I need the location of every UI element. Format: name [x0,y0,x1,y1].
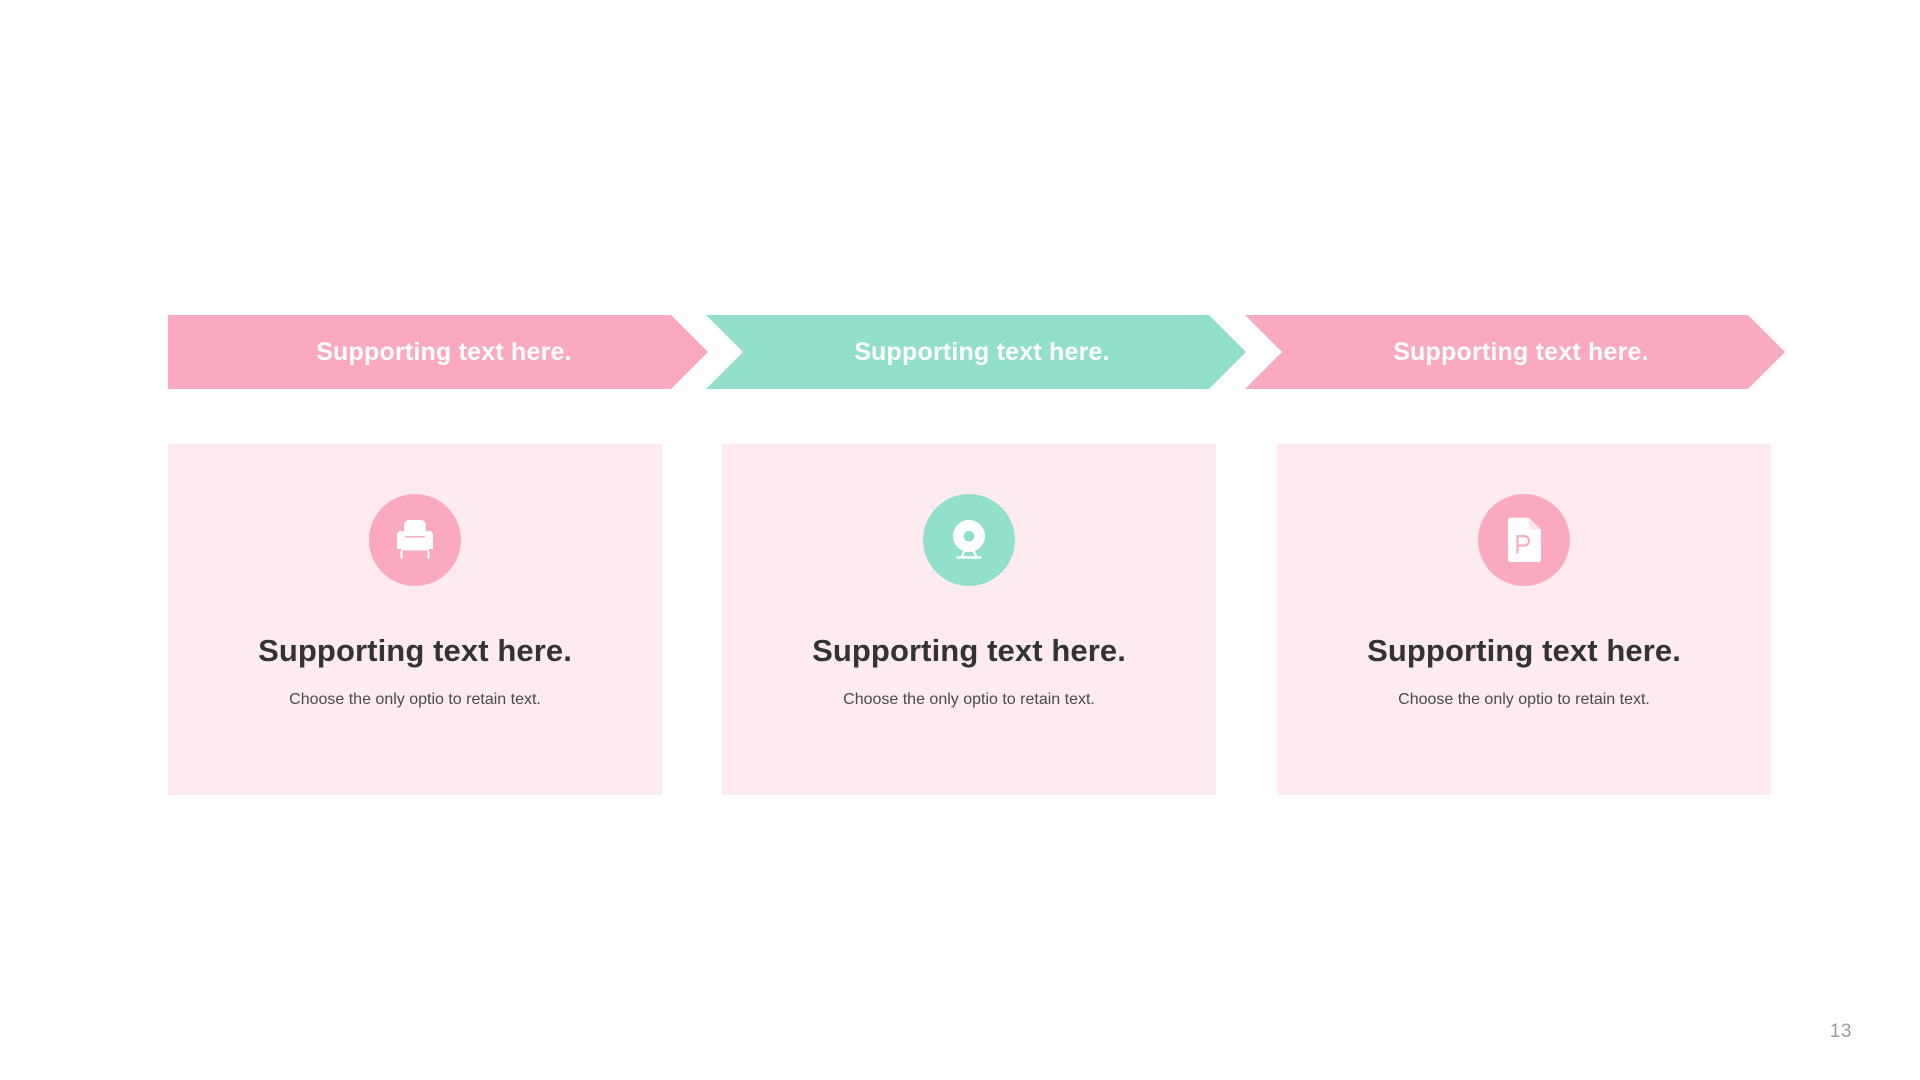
process-banner-step-2[interactable]: Supporting text here. [706,315,1246,389]
process-banner-step-2-label: Supporting text here. [854,338,1110,367]
feature-card-2-title: Supporting text here. [812,634,1126,668]
feature-card-3-title: Supporting text here. [1367,634,1681,668]
feature-card-1[interactable]: Supporting text here. Choose the only op… [168,444,662,795]
powerpoint-file-icon [1478,494,1570,586]
feature-card-1-description: Choose the only optio to retain text. [289,690,541,709]
process-banner-row: Supporting text here. Supporting text he… [168,315,1785,389]
process-banner-step-1[interactable]: Supporting text here. [168,315,708,389]
webcam-icon [923,494,1015,586]
slide-canvas: Supporting text here. Supporting text he… [0,0,1920,1080]
feature-card-3-description: Choose the only optio to retain text. [1398,690,1650,709]
feature-card-2-description: Choose the only optio to retain text. [843,690,1095,709]
armchair-icon [369,494,461,586]
feature-card-2[interactable]: Supporting text here. Choose the only op… [722,444,1216,795]
feature-card-1-title: Supporting text here. [258,634,572,668]
process-banner-step-1-label: Supporting text here. [316,338,572,367]
page-number: 13 [1830,1021,1852,1043]
process-banner-step-3-label: Supporting text here. [1393,338,1649,367]
process-banner-step-3[interactable]: Supporting text here. [1245,315,1785,389]
feature-card-3[interactable]: Supporting text here. Choose the only op… [1277,444,1771,795]
